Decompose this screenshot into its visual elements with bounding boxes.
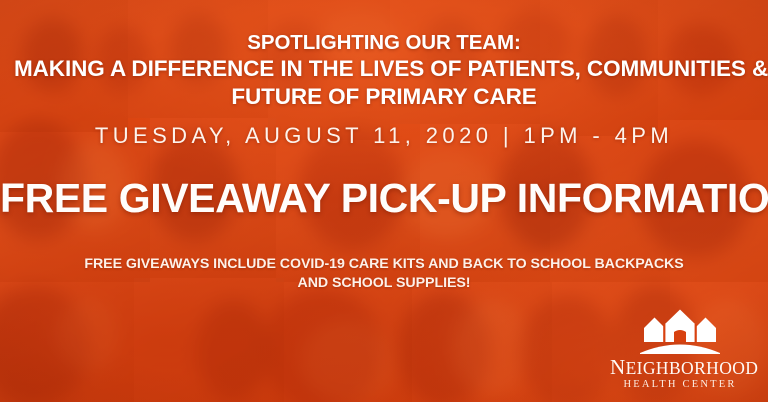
giveaway-details-block: FREE GIVEAWAYS INCLUDE COVID-19 CARE KIT… [0, 255, 768, 293]
organization-logo: NEIGHBORHOOD HEALTH CENTER [610, 308, 750, 390]
giveaway-details-line-1: FREE GIVEAWAYS INCLUDE COVID-19 CARE KIT… [30, 255, 738, 274]
headline-line-3: FUTURE OF PRIMARY CARE [14, 83, 754, 111]
logo-name-initial: N [610, 355, 626, 379]
headline-line-2: MAKING A DIFFERENCE IN THE LIVES OF PATI… [14, 55, 754, 83]
headline-line-1: SPOTLIGHTING OUR TEAM: [14, 30, 754, 55]
logo-subtitle: HEALTH CENTER [610, 379, 750, 390]
logo-name: NEIGHBORHOOD [610, 356, 750, 378]
banner-content: SPOTLIGHTING OUR TEAM: MAKING A DIFFEREN… [0, 0, 768, 402]
page-title: FREE GIVEAWAY PICK-UP INFORMATION [0, 177, 768, 220]
event-promo-banner: SPOTLIGHTING OUR TEAM: MAKING A DIFFEREN… [0, 0, 768, 402]
logo-name-rest: EIGHBORHOOD [626, 358, 759, 378]
headline-block: SPOTLIGHTING OUR TEAM: MAKING A DIFFEREN… [0, 30, 768, 111]
giveaway-details-line-2: AND SCHOOL SUPPLIES! [30, 274, 738, 293]
three-houses-arc-icon [638, 308, 722, 354]
event-date-time: TUESDAY, AUGUST 11, 2020 | 1PM - 4PM [0, 123, 768, 149]
